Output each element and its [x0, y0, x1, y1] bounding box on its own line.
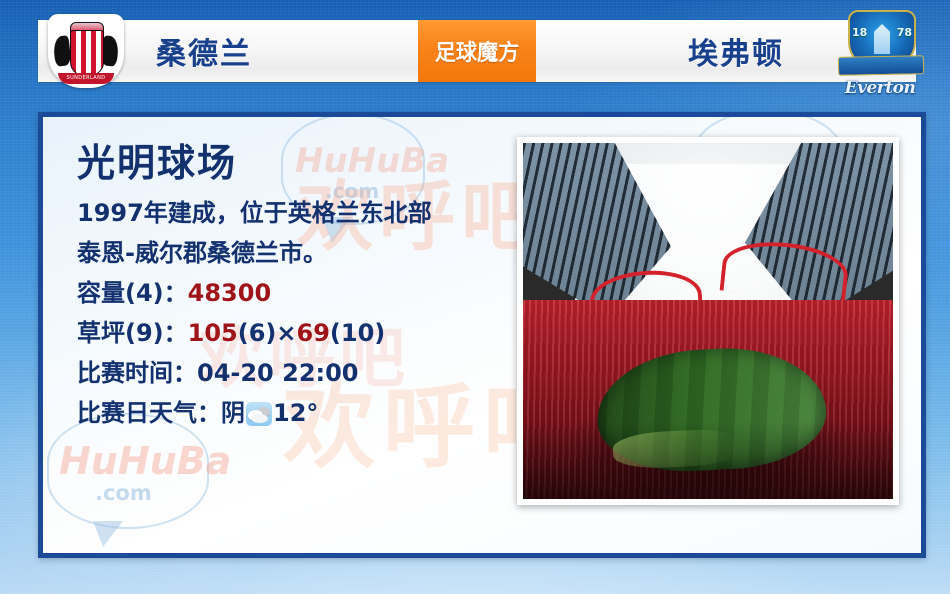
match-time-value: 04-20 22:00	[197, 359, 359, 387]
lion-left-icon	[52, 35, 71, 67]
pitch-width-rank: (10)	[330, 319, 385, 347]
pitch-length-rank: (6)	[238, 319, 277, 347]
brand-logo[interactable]: 足球魔方	[418, 20, 536, 82]
weather-label: 比赛日天气：	[77, 399, 221, 427]
capacity-value: 48300	[188, 279, 272, 307]
stadium-description-line-1: 1997年建成，位于英格兰东北部	[77, 193, 497, 233]
pitch-separator: ×	[276, 319, 296, 347]
home-team-name: 桑德兰	[156, 20, 252, 82]
card-content: 光明球场 1997年建成，位于英格兰东北部 泰恩-威尔郡桑德兰市。 容量(4)：…	[43, 117, 921, 553]
stadium-info-card: HuHuBa .com HuHuBa .com HuHuBa .com 欢呼吧 …	[38, 112, 926, 558]
pitch-row: 草坪(9)：105(6)×69(10)	[77, 313, 497, 353]
crest-ribbon	[838, 55, 924, 75]
capacity-row: 容量(4)：48300	[77, 273, 497, 313]
pitch-length: 105	[188, 319, 238, 347]
photo-shadow	[523, 421, 893, 499]
stadium-info-block: 光明球场 1997年建成，位于英格兰东北部 泰恩-威尔郡桑德兰市。 容量(4)：…	[77, 139, 497, 433]
match-time-label: 比赛时间：	[77, 359, 197, 387]
pitch-width: 69	[297, 319, 330, 347]
weather-temperature: 12°	[273, 399, 318, 427]
stadium-name-title: 光明球场	[77, 139, 497, 187]
crest-wordmark: Everton	[834, 78, 926, 98]
crest-shield	[70, 30, 104, 76]
screenshot-root: 桑德兰 埃弗顿 SUNDERLAND A.F.C. 足球魔方 18 78 Eve…	[0, 0, 950, 594]
match-time-row: 比赛时间：04-20 22:00	[77, 353, 497, 393]
cloudy-icon	[246, 402, 272, 426]
crest-band-text: SUNDERLAND A.F.C.	[58, 73, 114, 84]
away-team-name: 埃弗顿	[688, 20, 784, 82]
stadium-description-line-2: 泰恩-威尔郡桑德兰市。	[77, 233, 497, 273]
crest-year-left: 18	[852, 26, 867, 39]
tower-icon	[874, 24, 890, 54]
stadium-photo-frame	[517, 137, 899, 505]
crest-year-right: 78	[897, 26, 912, 39]
sunderland-crest-icon: SUNDERLAND A.F.C.	[48, 14, 124, 88]
pitch-label: 草坪(9)：	[77, 319, 188, 347]
stadium-photo	[523, 143, 893, 499]
brand-logo-text: 足球魔方	[435, 35, 519, 67]
weather-row: 比赛日天气：阴12°	[77, 393, 497, 433]
capacity-label: 容量(4)：	[77, 279, 188, 307]
weather-condition: 阴	[221, 399, 245, 427]
everton-crest-icon: 18 78 Everton	[834, 6, 926, 98]
